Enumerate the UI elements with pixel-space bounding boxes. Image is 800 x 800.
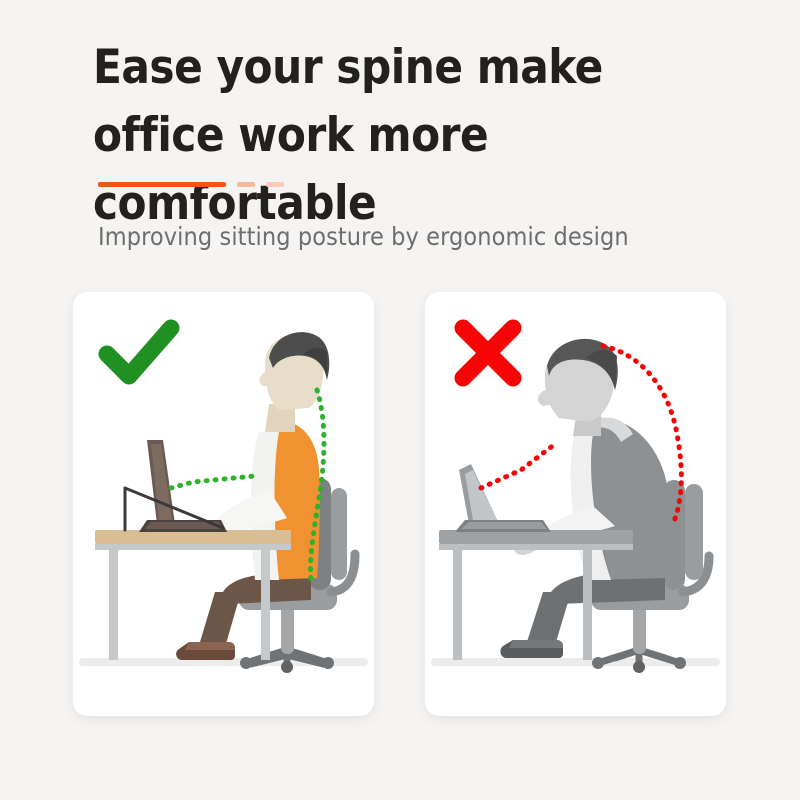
check-mark-icon: [107, 328, 171, 376]
divider-dash-secondary: [237, 182, 255, 187]
page-subtitle: Improving sitting posture by ergonomic d…: [98, 222, 758, 251]
guide-line-sight: [171, 476, 255, 488]
laptop: [125, 440, 227, 532]
guide-line-sight: [481, 444, 555, 488]
page-title: Ease your spine make office work more co…: [93, 34, 783, 238]
card-bad-posture: [425, 292, 726, 716]
desk: [95, 530, 291, 660]
person-good-posture: [176, 332, 329, 660]
card-good-posture: [73, 292, 374, 716]
poster-root: Ease your spine make office work more co…: [0, 0, 800, 800]
cross-mark-icon: [463, 328, 513, 378]
divider-dash-tertiary: [266, 182, 284, 187]
title-divider: [98, 181, 284, 187]
divider-dash-primary: [98, 182, 226, 187]
laptop: [455, 464, 551, 532]
